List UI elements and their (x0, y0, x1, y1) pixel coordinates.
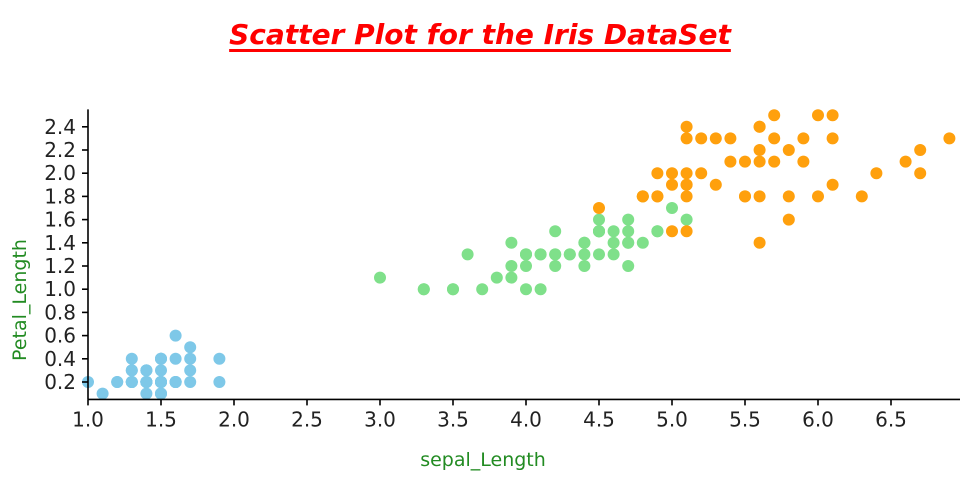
y-tick-label: 1.8 (44, 184, 76, 208)
data-point (170, 376, 182, 388)
data-point (797, 156, 809, 168)
data-point (535, 283, 547, 295)
data-point (666, 167, 678, 179)
data-point (564, 248, 576, 260)
y-tick-label: 1.4 (44, 231, 76, 255)
data-point (666, 225, 678, 237)
data-point (593, 225, 605, 237)
data-point (914, 167, 926, 179)
data-point (535, 248, 547, 260)
data-points-layer (82, 109, 955, 399)
data-point (549, 225, 561, 237)
data-point (681, 179, 693, 191)
data-point (608, 248, 620, 260)
plot-canvas: 1.01.52.02.53.03.54.04.55.05.56.06.5 0.2… (0, 0, 960, 500)
data-point (170, 330, 182, 342)
y-tick-label: 1.0 (44, 277, 76, 301)
data-point (97, 388, 109, 400)
data-point (827, 132, 839, 144)
data-point (622, 225, 634, 237)
data-point (140, 364, 152, 376)
data-point (827, 109, 839, 121)
y-tick-label: 0.4 (44, 347, 76, 371)
x-tick-label: 2.0 (218, 407, 250, 431)
data-point (622, 237, 634, 249)
data-point (184, 364, 196, 376)
data-point (184, 376, 196, 388)
data-point (447, 283, 459, 295)
y-tick-label: 0.2 (44, 370, 76, 394)
data-point (783, 144, 795, 156)
data-point (710, 179, 722, 191)
data-point (549, 260, 561, 272)
data-point (783, 190, 795, 202)
data-point (462, 248, 474, 260)
data-point (754, 156, 766, 168)
data-point (476, 283, 488, 295)
x-tick-label: 4.0 (510, 407, 542, 431)
x-tick-label: 3.0 (364, 407, 396, 431)
data-point (155, 388, 167, 400)
data-point (812, 109, 824, 121)
y-axis-label: Petal_Length (9, 239, 31, 361)
data-point (520, 248, 532, 260)
data-point (505, 260, 517, 272)
data-point (914, 144, 926, 156)
data-point (637, 190, 649, 202)
data-point (681, 167, 693, 179)
data-point (578, 237, 590, 249)
data-point (126, 353, 138, 365)
data-point (724, 132, 736, 144)
data-point (695, 167, 707, 179)
data-point (943, 132, 955, 144)
x-tick-label: 6.0 (802, 407, 834, 431)
data-point (695, 132, 707, 144)
series-versicolor (374, 190, 693, 295)
scatter-plot-figure: Scatter Plot for the Iris DataSet 1.01.5… (0, 0, 960, 500)
data-point (608, 225, 620, 237)
data-point (170, 353, 182, 365)
data-point (812, 190, 824, 202)
x-tick-label: 5.0 (656, 407, 688, 431)
data-point (681, 132, 693, 144)
data-point (549, 248, 561, 260)
data-point (754, 144, 766, 156)
data-point (870, 167, 882, 179)
y-tick-label: 1.6 (44, 208, 76, 232)
data-point (754, 121, 766, 133)
data-point (578, 260, 590, 272)
x-tick-label: 5.5 (729, 407, 761, 431)
data-point (797, 132, 809, 144)
data-point (155, 364, 167, 376)
data-point (651, 167, 663, 179)
x-tick-label: 2.5 (291, 407, 323, 431)
data-point (681, 121, 693, 133)
data-point (651, 225, 663, 237)
data-point (213, 353, 225, 365)
data-point (754, 237, 766, 249)
data-point (155, 353, 167, 365)
y-tick-label: 0.6 (44, 324, 76, 348)
data-point (768, 132, 780, 144)
data-point (666, 202, 678, 214)
data-point (681, 225, 693, 237)
data-point (783, 214, 795, 226)
y-tick-label: 1.2 (44, 254, 76, 278)
y-tick-label: 0.8 (44, 300, 76, 324)
x-axis-ticks: 1.01.52.02.53.03.54.04.55.05.56.06.5 (72, 399, 907, 431)
data-point (593, 202, 605, 214)
data-point (754, 190, 766, 202)
x-tick-label: 1.5 (145, 407, 177, 431)
data-point (578, 248, 590, 260)
y-tick-label: 2.0 (44, 161, 76, 185)
series-setosa (82, 330, 225, 400)
data-point (637, 237, 649, 249)
data-point (710, 132, 722, 144)
data-point (739, 190, 751, 202)
data-point (856, 190, 868, 202)
data-point (213, 376, 225, 388)
y-tick-label: 2.4 (44, 115, 76, 139)
data-point (111, 376, 123, 388)
data-point (155, 376, 167, 388)
data-point (739, 156, 751, 168)
data-point (768, 109, 780, 121)
data-point (520, 283, 532, 295)
data-point (505, 237, 517, 249)
data-point (184, 353, 196, 365)
x-tick-label: 1.0 (72, 407, 104, 431)
y-tick-label: 2.2 (44, 138, 76, 162)
data-point (593, 214, 605, 226)
data-point (593, 248, 605, 260)
data-point (827, 179, 839, 191)
data-point (418, 283, 430, 295)
data-point (724, 156, 736, 168)
series-virginica (593, 109, 955, 249)
data-point (768, 156, 780, 168)
data-point (681, 214, 693, 226)
data-point (374, 272, 386, 284)
x-tick-label: 6.5 (875, 407, 907, 431)
data-point (622, 214, 634, 226)
data-point (681, 190, 693, 202)
data-point (651, 190, 663, 202)
x-axis-label: sepal_Length (420, 449, 546, 471)
data-point (126, 376, 138, 388)
data-point (622, 260, 634, 272)
data-point (184, 341, 196, 353)
data-point (140, 388, 152, 400)
data-point (140, 376, 152, 388)
x-tick-label: 4.5 (583, 407, 615, 431)
y-axis-ticks: 0.20.40.60.81.01.21.41.61.82.02.22.4 (44, 115, 88, 394)
data-point (666, 179, 678, 191)
data-point (900, 156, 912, 168)
data-point (608, 237, 620, 249)
data-point (520, 260, 532, 272)
data-point (505, 272, 517, 284)
x-tick-label: 3.5 (437, 407, 469, 431)
data-point (491, 272, 503, 284)
data-point (126, 364, 138, 376)
